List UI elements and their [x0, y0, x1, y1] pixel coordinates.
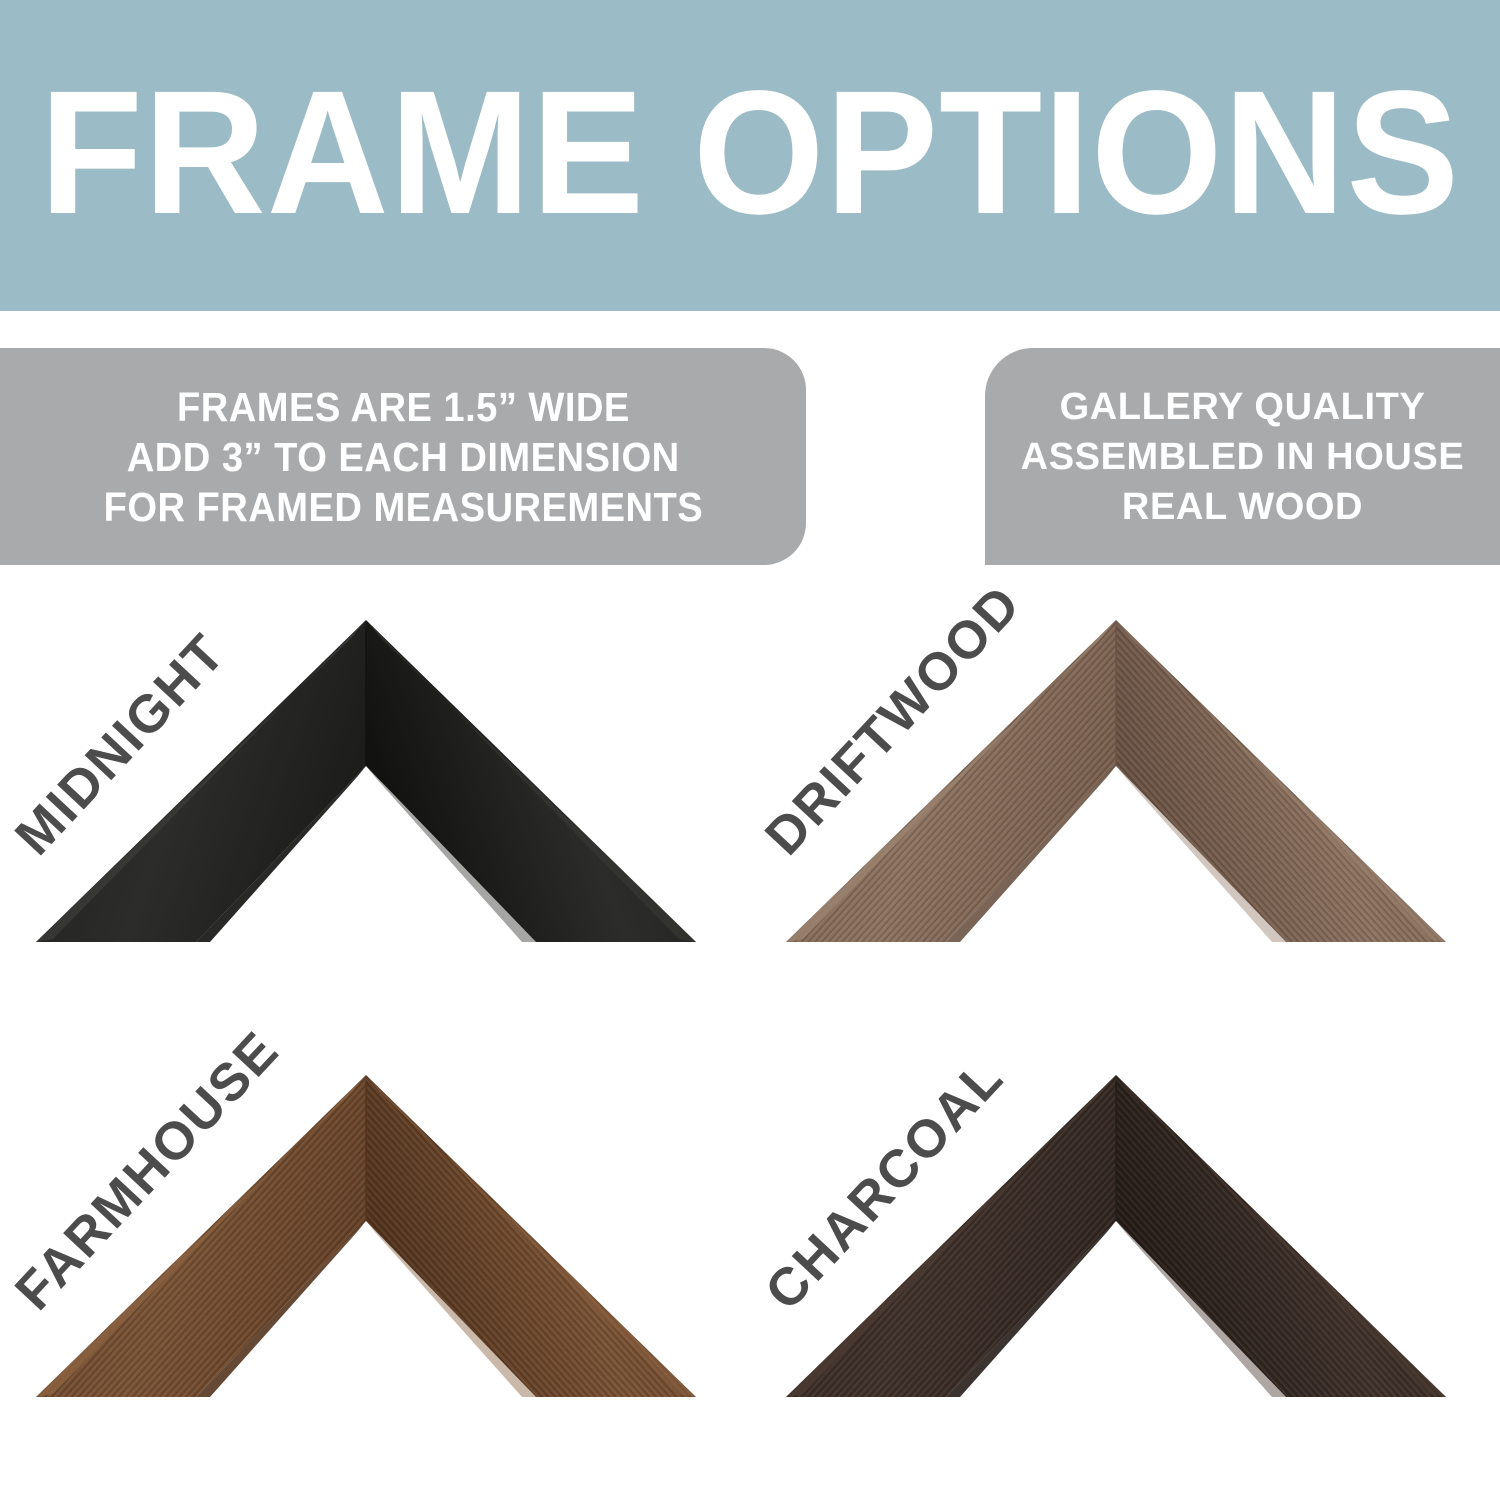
sizing-info-line-2: ADD 3” TO EACH DIMENSION — [127, 432, 680, 482]
quality-info-line-3: REAL WOOD — [1122, 482, 1363, 532]
frame-swatch-midnight[interactable]: MIDNIGHT — [0, 580, 750, 1035]
quality-info-banner: GALLERY QUALITY ASSEMBLED IN HOUSE REAL … — [985, 348, 1500, 565]
sizing-info-line-3: FOR FRAMED MEASUREMENTS — [103, 482, 703, 532]
sizing-info-banner: FRAMES ARE 1.5” WIDE ADD 3” TO EACH DIME… — [0, 348, 806, 565]
quality-info-line-2: ASSEMBLED IN HOUSE — [1021, 432, 1465, 482]
frame-corner-midnight-icon — [0, 580, 750, 1035]
frame-swatch-grid: MIDNIGHT DRIFTWOOD FARMHOUSE CHARCOAL — [0, 580, 1500, 1500]
frame-swatch-driftwood[interactable]: DRIFTWOOD — [750, 580, 1500, 1035]
sizing-info-line-1: FRAMES ARE 1.5” WIDE — [177, 382, 630, 432]
quality-info-line-1: GALLERY QUALITY — [1060, 382, 1426, 432]
page-title: FRAME OPTIONS — [40, 65, 1461, 247]
frame-corner-driftwood-icon — [750, 580, 1500, 1035]
frame-options-infographic: FRAME OPTIONS FRAMES ARE 1.5” WIDE ADD 3… — [0, 0, 1500, 1500]
frame-swatch-charcoal[interactable]: CHARCOAL — [750, 1035, 1500, 1490]
frame-corner-farmhouse-icon — [0, 1035, 750, 1490]
frame-swatch-farmhouse[interactable]: FARMHOUSE — [0, 1035, 750, 1490]
header-banner: FRAME OPTIONS — [0, 0, 1500, 311]
frame-corner-charcoal-icon — [750, 1035, 1500, 1490]
